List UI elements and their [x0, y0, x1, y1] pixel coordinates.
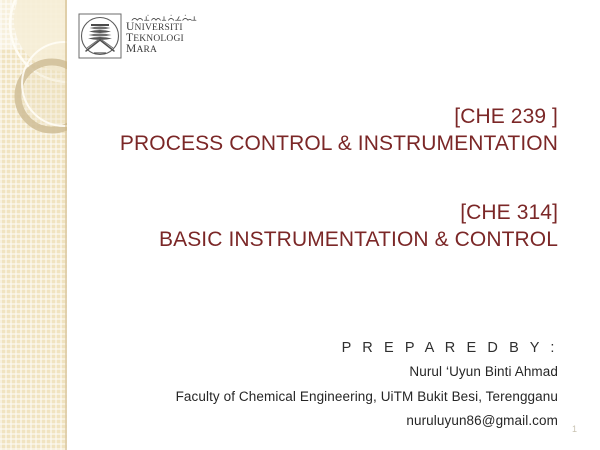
prepared-by-block: P R E P A R E D B Y : Nurul ‘Uyun Binti … — [60, 336, 558, 434]
uitm-crest-icon — [78, 13, 122, 59]
author-name: Nurul ‘Uyun Binti Ahmad — [60, 360, 558, 385]
prepared-by-label: P R E P A R E D B Y : — [60, 336, 558, 360]
university-logo: UNIVERSITI TEKNOLOGI MARA — [78, 13, 200, 61]
course-code-2: [CHE 314] — [90, 199, 558, 226]
course-name-2: BASIC INSTRUMENTATION & CONTROL — [90, 226, 558, 253]
logo-line-mara: MARA — [126, 44, 202, 55]
title-block: [CHE 239 ] PROCESS CONTROL & INSTRUMENTA… — [90, 103, 558, 253]
author-email: nuruluyun86@gmail.com — [60, 409, 558, 434]
presentation-slide: UNIVERSITI TEKNOLOGI MARA [CHE 239 ] PRO… — [0, 0, 600, 450]
decorative-side-band — [0, 0, 67, 450]
page-number: 1 — [572, 424, 577, 435]
logo-line-universiti: UNIVERSITI — [126, 22, 202, 33]
band-circle-decoration-icon — [0, 0, 67, 450]
logo-arabic-script-icon — [126, 14, 202, 22]
title-spacer — [90, 157, 558, 199]
author-affiliation: Faculty of Chemical Engineering, UiTM Bu… — [60, 385, 558, 410]
logo-wordmark: UNIVERSITI TEKNOLOGI MARA — [126, 14, 202, 56]
course-name-1: PROCESS CONTROL & INSTRUMENTATION — [90, 130, 558, 157]
logo-line-teknologi: TEKNOLOGI — [126, 33, 202, 44]
course-code-1: [CHE 239 ] — [90, 103, 558, 130]
